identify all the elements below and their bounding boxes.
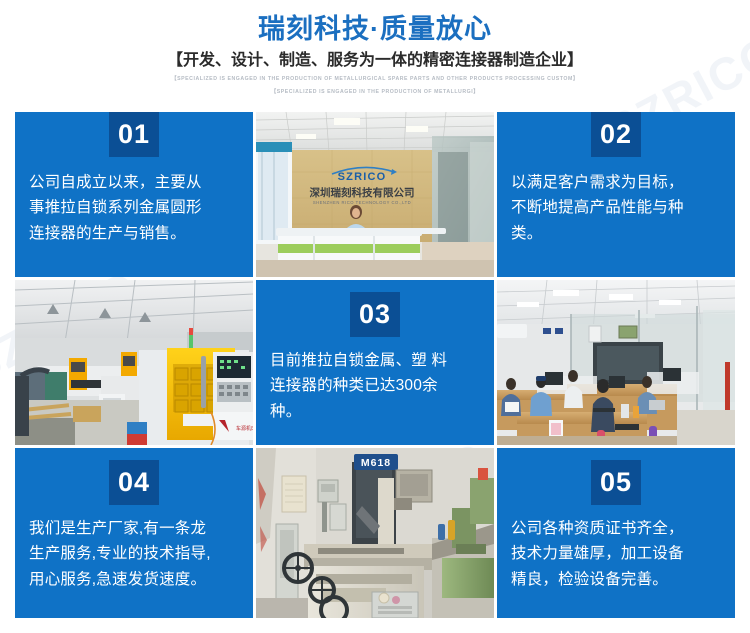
cell-05: 05 公司各种资质证书齐全， 技术力量雄厚，加工设备 精良，检验设备完善。 bbox=[497, 448, 735, 618]
photo-surface-grinder: M618 bbox=[256, 448, 494, 618]
feature-grid: 01 公司自成立以来，主要从 事推拉自锁系列金属圆形 连接器的生产与销售。 bbox=[15, 112, 735, 618]
badge-number: 02 bbox=[600, 119, 632, 150]
surface-grinder-illustration: M618 bbox=[256, 448, 494, 618]
subtitle-english-line1: 【SPECIALIZED IS ENGAGED IN THE PRODUCTIO… bbox=[0, 75, 750, 85]
reception-photo-illustration: SZRICO 深圳瑞刻科技有限公司 SHENZHEN RICO TECHNOLO… bbox=[256, 112, 494, 277]
badge-04: 04 bbox=[109, 460, 159, 505]
svg-text:车源机床: 车源机床 bbox=[236, 425, 253, 432]
cell-01: 01 公司自成立以来，主要从 事推拉自锁系列金属圆形 连接器的生产与销售。 bbox=[15, 112, 253, 277]
cell-01-body: 公司自成立以来，主要从 事推拉自锁系列金属圆形 连接器的生产与销售。 bbox=[29, 170, 241, 246]
page-subtitle: 【开发、设计、制造、服务为一体的精密连接器制造企业】 bbox=[0, 51, 750, 71]
badge-05: 05 bbox=[591, 460, 641, 505]
cell-03: 03 目前推拉自锁金属、塑 料 连接器的种类已达300余 种。 bbox=[256, 280, 494, 445]
badge-number: 01 bbox=[118, 119, 150, 150]
svg-text:SHENZHEN RICO TECHNOLOGY CO.,L: SHENZHEN RICO TECHNOLOGY CO.,LTD bbox=[313, 200, 411, 205]
cnc-workshop-illustration: 车源机床 bbox=[15, 280, 253, 445]
svg-text:M618: M618 bbox=[361, 457, 391, 469]
svg-text:SZRICO: SZRICO bbox=[338, 171, 387, 183]
page-title: 瑞刻科技·质量放心 bbox=[0, 13, 750, 45]
badge-number: 05 bbox=[600, 467, 632, 498]
badge-number: 04 bbox=[118, 467, 150, 498]
cell-02-body: 以满足客户需求为目标， 不断地提高产品性能与种 类。 bbox=[511, 170, 723, 246]
badge-number: 03 bbox=[359, 299, 391, 330]
badge-03: 03 bbox=[350, 292, 400, 337]
office-illustration bbox=[497, 280, 735, 445]
photo-office bbox=[497, 280, 735, 445]
subtitle-english-line2: 【SPECIALIZED IS ENGAGED IN THE PRODUCTIO… bbox=[0, 88, 750, 98]
cell-04-body: 我们是生产厂家,有一条龙 生产服务,专业的技术指导, 用心服务,急速发货速度。 bbox=[29, 516, 241, 592]
cell-02: 02 以满足客户需求为目标， 不断地提高产品性能与种 类。 bbox=[497, 112, 735, 277]
photo-reception: SZRICO 深圳瑞刻科技有限公司 SHENZHEN RICO TECHNOLO… bbox=[256, 112, 494, 277]
badge-02: 02 bbox=[591, 112, 641, 157]
svg-text:深圳瑞刻科技有限公司: 深圳瑞刻科技有限公司 bbox=[310, 186, 415, 199]
badge-01: 01 bbox=[109, 112, 159, 157]
cell-04: 04 我们是生产厂家,有一条龙 生产服务,专业的技术指导, 用心服务,急速发货速… bbox=[15, 448, 253, 618]
photo-cnc-workshop: 车源机床 bbox=[15, 280, 253, 445]
promo-banner: SZRICO SZRICO SZRICO 瑞刻科技·质量放心 【开发、设计、制造… bbox=[0, 0, 750, 633]
cell-05-body: 公司各种资质证书齐全， 技术力量雄厚，加工设备 精良，检验设备完善。 bbox=[511, 516, 723, 592]
header: 瑞刻科技·质量放心 【开发、设计、制造、服务为一体的精密连接器制造企业】 【SP… bbox=[0, 0, 750, 98]
cell-03-body: 目前推拉自锁金属、塑 料 连接器的种类已达300余 种。 bbox=[270, 348, 482, 424]
